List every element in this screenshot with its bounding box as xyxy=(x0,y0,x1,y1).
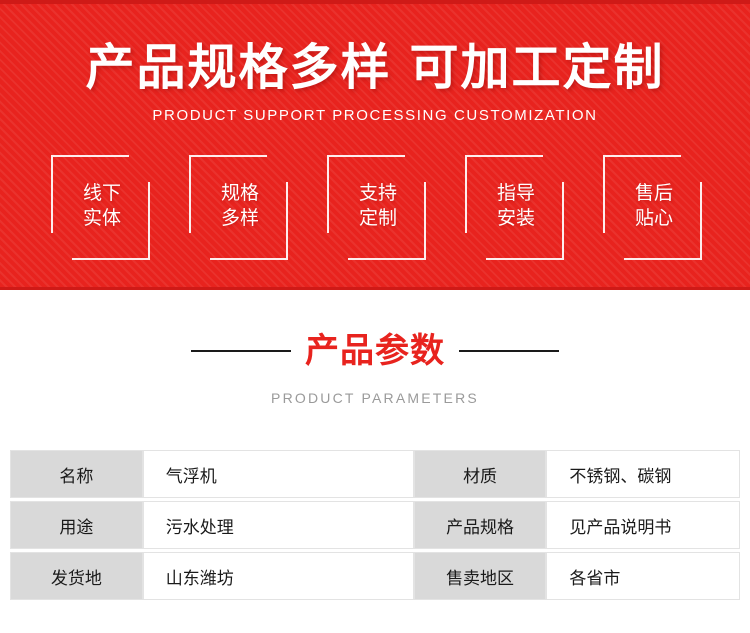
badge-line-2: 实体 xyxy=(48,206,156,231)
param-value-cell: 污水处理 xyxy=(143,501,414,549)
param-value-cell: 见产品说明书 xyxy=(546,501,740,549)
section-title-row: 产品参数 xyxy=(0,325,750,377)
feature-badge-after-sales: 售后 贴心 xyxy=(600,155,708,260)
banner-top-accent-line xyxy=(0,0,750,4)
badge-line-1: 售后 xyxy=(635,183,673,204)
feature-badge-label: 售后 贴心 xyxy=(600,181,708,231)
page-title: 产品参数 xyxy=(305,331,445,371)
param-value-cell: 各省市 xyxy=(546,552,740,600)
section-header: 产品参数 PRODUCT PARAMETERS xyxy=(0,325,750,420)
banner-title-part2: 可加工定制 xyxy=(410,41,665,95)
badge-line-2: 定制 xyxy=(324,206,432,231)
badge-line-1: 线下 xyxy=(83,183,121,204)
product-parameters-table: 名称 气浮机 材质 不锈钢、碳钢 用途 污水处理 产品规格 见产品说明书 发货地… xyxy=(10,450,740,600)
banner-bottom-accent-line xyxy=(0,287,750,290)
table-row: 用途 污水处理 产品规格 见产品说明书 xyxy=(10,501,740,549)
feature-badge-installation-guidance: 指导 安装 xyxy=(462,155,570,260)
param-label-cell: 发货地 xyxy=(10,552,143,600)
banner-title: 产品规格多样可加工定制 xyxy=(0,38,750,98)
badge-line-1: 指导 xyxy=(497,183,535,204)
feature-badge-offline-store: 线下 实体 xyxy=(48,155,156,260)
badge-line-2: 贴心 xyxy=(600,206,708,231)
param-label-cell: 用途 xyxy=(10,501,143,549)
param-label-cell: 名称 xyxy=(10,450,143,498)
feature-badge-customization: 支持 定制 xyxy=(324,155,432,260)
section-rule-right xyxy=(459,350,559,352)
badge-line-2: 安装 xyxy=(462,206,570,231)
table-row: 发货地 山东潍坊 售卖地区 各省市 xyxy=(10,552,740,600)
promo-banner: 产品规格多样可加工定制 PRODUCT SUPPORT PROCESSING C… xyxy=(0,0,750,290)
param-label-cell: 售卖地区 xyxy=(414,552,547,600)
badge-line-2: 多样 xyxy=(186,206,294,231)
table-row: 名称 气浮机 材质 不锈钢、碳钢 xyxy=(10,450,740,498)
feature-badge-list: 线下 实体 规格 多样 支持 定制 指导 安装 xyxy=(48,155,708,260)
badge-line-1: 规格 xyxy=(221,183,259,204)
feature-badge-varied-specs: 规格 多样 xyxy=(186,155,294,260)
banner-subtitle: PRODUCT SUPPORT PROCESSING CUSTOMIZATION xyxy=(0,107,750,124)
feature-badge-label: 指导 安装 xyxy=(462,181,570,231)
param-value-cell: 山东潍坊 xyxy=(143,552,414,600)
param-value-cell: 不锈钢、碳钢 xyxy=(546,450,740,498)
feature-badge-label: 支持 定制 xyxy=(324,181,432,231)
banner-title-part1: 产品规格多样 xyxy=(85,41,391,95)
section-rule-left xyxy=(191,350,291,352)
param-value-cell: 气浮机 xyxy=(143,450,414,498)
feature-badge-label: 线下 实体 xyxy=(48,181,156,231)
param-label-cell: 材质 xyxy=(414,450,547,498)
param-label-cell: 产品规格 xyxy=(414,501,547,549)
section-subtitle: PRODUCT PARAMETERS xyxy=(0,390,750,406)
badge-line-1: 支持 xyxy=(359,183,397,204)
feature-badge-label: 规格 多样 xyxy=(186,181,294,231)
